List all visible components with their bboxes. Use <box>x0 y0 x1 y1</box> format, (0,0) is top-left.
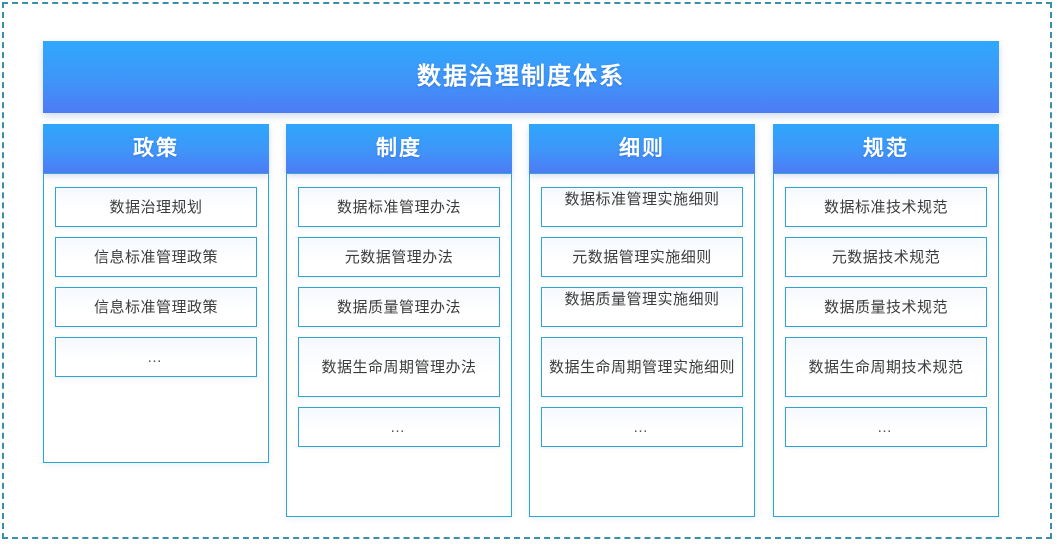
list-item-label: 数据治理规划 <box>105 197 206 218</box>
column-header-standards: 规范 <box>773 124 999 173</box>
list-item-label: 元数据管理办法 <box>341 247 458 268</box>
column-body-system: 数据标准管理办法 元数据管理办法 数据质量管理办法 数据生命周期管理办法 … <box>286 173 512 517</box>
column-rules: 细则 数据标准管理实施细则 元数据管理实施细则 数据质量管理实施细则 数据生命周… <box>529 124 755 517</box>
list-item[interactable]: 数据生命周期管理实施细则 <box>541 337 743 397</box>
column-header-policy: 政策 <box>43 124 269 173</box>
column-title: 政策 <box>133 138 179 159</box>
column-title: 制度 <box>376 138 422 159</box>
list-item-label: 数据标准管理办法 <box>333 197 465 218</box>
list-item-label: … <box>629 417 655 438</box>
column-title: 细则 <box>619 138 665 159</box>
list-item[interactable]: 信息标准管理政策 <box>55 237 257 277</box>
list-item[interactable]: 信息标准管理政策 <box>55 287 257 327</box>
list-item-label: … <box>873 417 899 438</box>
list-item[interactable]: 数据标准管理实施细则 <box>541 187 743 227</box>
column-header-rules: 细则 <box>529 124 755 173</box>
column-standards: 规范 数据标准技术规范 元数据技术规范 数据质量技术规范 数据生命周期技术规范 … <box>773 124 999 517</box>
list-item-label: 数据质量技术规范 <box>820 297 952 318</box>
list-item[interactable]: 元数据管理实施细则 <box>541 237 743 277</box>
list-item-label: 信息标准管理政策 <box>90 247 222 268</box>
list-item-label: 数据质量管理办法 <box>333 297 465 318</box>
list-item-label: 元数据管理实施细则 <box>568 247 716 268</box>
list-item[interactable]: 数据质量技术规范 <box>785 287 987 327</box>
column-header-system: 制度 <box>286 124 512 173</box>
list-item-label: 数据生命周期管理办法 <box>317 357 480 378</box>
diagram-banner: 数据治理制度体系 <box>43 41 999 113</box>
list-item-label: … <box>386 417 412 438</box>
column-body-standards: 数据标准技术规范 元数据技术规范 数据质量技术规范 数据生命周期技术规范 … <box>773 173 999 517</box>
list-item[interactable]: 数据标准技术规范 <box>785 187 987 227</box>
list-item-more[interactable]: … <box>541 407 743 447</box>
column-container: 政策 数据治理规划 信息标准管理政策 信息标准管理政策 … 制度 <box>43 124 999 524</box>
page-title: 数据治理制度体系 <box>417 65 625 89</box>
column-title: 规范 <box>863 138 909 159</box>
list-item[interactable]: 数据标准管理办法 <box>298 187 500 227</box>
column-body-rules: 数据标准管理实施细则 元数据管理实施细则 数据质量管理实施细则 数据生命周期管理… <box>529 173 755 517</box>
list-item-more[interactable]: … <box>55 337 257 377</box>
list-item-label: 元数据技术规范 <box>828 247 945 268</box>
list-item[interactable]: 数据治理规划 <box>55 187 257 227</box>
list-item-more[interactable]: … <box>298 407 500 447</box>
list-item-more[interactable]: … <box>785 407 987 447</box>
list-item-label: … <box>143 347 169 368</box>
list-item-label: 数据标准管理实施细则 <box>560 189 723 210</box>
column-body-policy: 数据治理规划 信息标准管理政策 信息标准管理政策 … <box>43 173 269 463</box>
list-item[interactable]: 数据质量管理实施细则 <box>541 287 743 327</box>
list-item-label: 数据生命周期技术规范 <box>804 357 967 378</box>
list-item-label: 数据质量管理实施细则 <box>560 289 723 310</box>
list-item[interactable]: 数据质量管理办法 <box>298 287 500 327</box>
list-item-label: 信息标准管理政策 <box>90 297 222 318</box>
column-policy: 政策 数据治理规划 信息标准管理政策 信息标准管理政策 … <box>43 124 269 463</box>
list-item[interactable]: 数据生命周期技术规范 <box>785 337 987 397</box>
slide-frame: 数据治理制度体系 政策 数据治理规划 信息标准管理政策 信息标准管理政策 … <box>2 2 1052 539</box>
list-item[interactable]: 元数据管理办法 <box>298 237 500 277</box>
list-item-label: 数据标准技术规范 <box>820 197 952 218</box>
list-item[interactable]: 元数据技术规范 <box>785 237 987 277</box>
list-item[interactable]: 数据生命周期管理办法 <box>298 337 500 397</box>
column-system: 制度 数据标准管理办法 元数据管理办法 数据质量管理办法 数据生命周期管理办法 … <box>286 124 512 517</box>
list-item-label: 数据生命周期管理实施细则 <box>545 357 739 378</box>
